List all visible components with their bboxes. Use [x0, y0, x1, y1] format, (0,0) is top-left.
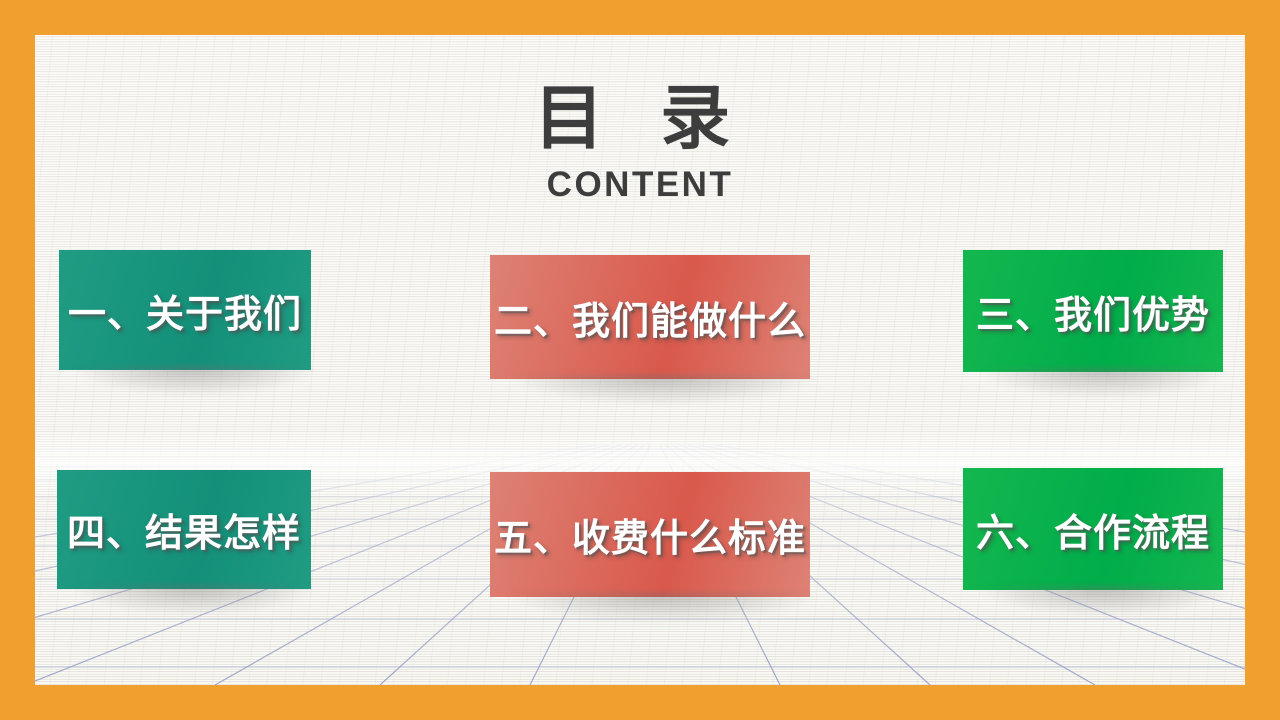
content-item-3-label: 三、我们优势 — [963, 284, 1223, 339]
content-item-3[interactable]: 三、我们优势 — [963, 250, 1223, 372]
content-item-4-label: 四、结果怎样 — [57, 502, 311, 557]
page-title: 目 录 — [35, 83, 1245, 153]
content-item-1[interactable]: 一、关于我们 — [59, 250, 311, 370]
content-item-2-label: 二、我们能做什么 — [490, 290, 810, 345]
content-item-6-label: 六、合作流程 — [963, 502, 1223, 557]
content-item-6[interactable]: 六、合作流程 — [963, 468, 1223, 590]
content-item-2[interactable]: 二、我们能做什么 — [490, 255, 810, 379]
page-title-block: 目 录 CONTENT — [35, 83, 1245, 202]
page-subtitle: CONTENT — [35, 167, 1245, 202]
content-item-5[interactable]: 五、收费什么标准 — [490, 472, 810, 597]
slide-root: 目 录 CONTENT 一、关于我们 二、我们能做什么 三、我们优势 四、结果怎… — [0, 0, 1280, 720]
slide-canvas: 目 录 CONTENT 一、关于我们 二、我们能做什么 三、我们优势 四、结果怎… — [35, 35, 1245, 685]
content-item-4[interactable]: 四、结果怎样 — [57, 470, 311, 589]
content-item-5-label: 五、收费什么标准 — [490, 507, 810, 562]
content-item-1-label: 一、关于我们 — [59, 283, 311, 338]
